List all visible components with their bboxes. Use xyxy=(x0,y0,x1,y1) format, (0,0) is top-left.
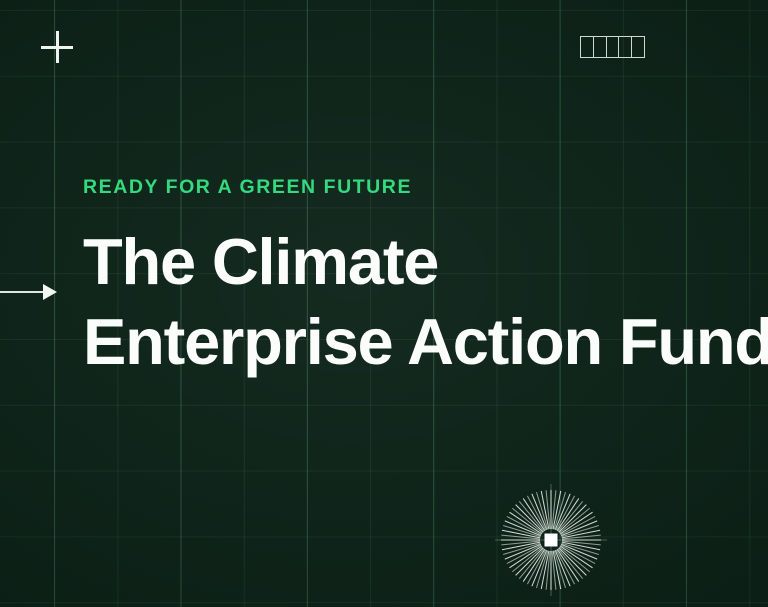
segmented-bar-cell xyxy=(594,37,607,57)
segmented-bar-icon xyxy=(580,36,645,58)
right-arrow-icon xyxy=(0,284,58,300)
crosshair-vertical-bar xyxy=(56,31,59,63)
headline-line-2: Enterprise Action Fund xyxy=(83,302,755,382)
arrow-shaft xyxy=(0,291,46,293)
page-title: The Climate Enterprise Action Fund xyxy=(83,198,755,383)
starburst-icon xyxy=(491,480,611,600)
segmented-bar-cell xyxy=(581,37,594,57)
crosshair-icon xyxy=(41,31,73,63)
segmented-bar-cell xyxy=(632,37,644,57)
segmented-bar-cell xyxy=(619,37,632,57)
segmented-bar-cell xyxy=(607,37,620,57)
chamfered-corner-icon xyxy=(0,535,58,607)
arrow-head xyxy=(43,284,57,300)
hero-content: READY FOR A GREEN FUTURE The Climate Ent… xyxy=(83,178,755,382)
eyebrow-text: READY FOR A GREEN FUTURE xyxy=(83,178,755,198)
headline-line-1: The Climate xyxy=(83,222,755,302)
poster-canvas: READY FOR A GREEN FUTURE The Climate Ent… xyxy=(0,0,768,607)
